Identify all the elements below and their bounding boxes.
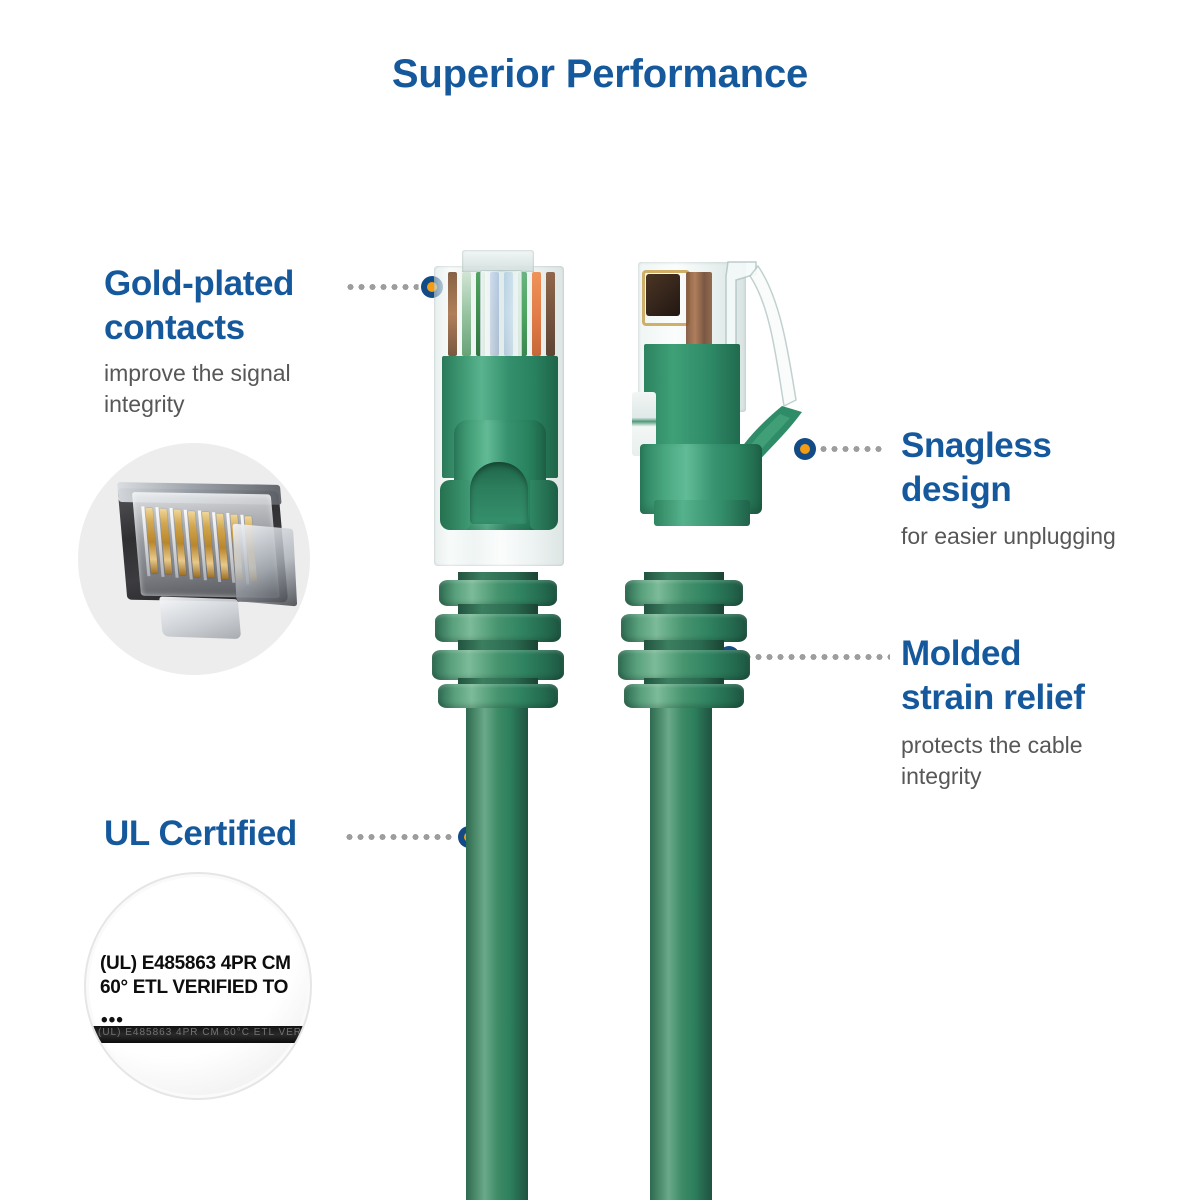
callout-heading-ul-certified: UL Certified	[104, 812, 364, 856]
cable-jacket-left	[466, 700, 528, 1200]
rj45-connector-front-view	[424, 248, 574, 588]
callout-heading-snagless-design: Snagless design	[901, 424, 1151, 512]
callout-heading-molded-strain-relief: Molded strain relief	[901, 632, 1161, 720]
cable-jacket-strip: (UL) E485863 4PR CM 60°C ETL VERIFIED TO	[84, 1026, 312, 1043]
callout-subtext-snagless-design: for easier unplugging	[901, 521, 1161, 552]
page-title: Superior Performance	[0, 52, 1200, 97]
boot-ring-3	[432, 650, 564, 680]
rj45-plug-macro-image	[109, 471, 304, 644]
boot-ring-2	[621, 614, 747, 642]
boot-ring-3	[618, 650, 750, 680]
cable-jacket-strip-text: (UL) E485863 4PR CM 60°C ETL VERIFIED TO	[98, 1027, 312, 1038]
wire-brown-2	[546, 272, 555, 356]
rj45-connector-side-view	[630, 248, 810, 588]
ul-print-line2: 60° ETL VERIFIED TO	[100, 977, 288, 998]
connector-top-tab	[462, 250, 534, 272]
boot-shoulder-left	[440, 480, 470, 530]
cable-jacket-right	[650, 700, 712, 1200]
leader-line-ul-certified	[344, 834, 460, 840]
infographic-page: Superior Performance Gold-plated contact…	[0, 0, 1200, 1200]
ul-print-text: (UL) E485863 4PR CM60° ETL VERIFIED TO	[100, 952, 300, 1000]
connector-boot-step	[654, 500, 750, 526]
boot-ring-4	[438, 684, 558, 708]
magnifier-gold-contacts	[78, 443, 310, 675]
callout-subtext-gold-plated-contacts: improve the signal integrity	[104, 358, 344, 420]
leader-line-snagless-design	[818, 446, 884, 452]
connector-green-body	[644, 344, 740, 460]
wire-brown-1	[448, 272, 457, 356]
callout-heading-gold-plated-contacts: Gold-plated contacts	[104, 262, 354, 350]
boot-thumb-recess	[470, 462, 528, 524]
ul-print-line1: (UL) E485863 4PR CM	[100, 953, 291, 974]
callout-subtext-molded-strain-relief: protects the cable integrity	[901, 730, 1151, 792]
boot-shoulder-right	[530, 480, 558, 530]
boot-ring-4	[624, 684, 744, 708]
leader-line-gold-plated-contacts	[345, 284, 423, 290]
wire-green-white	[462, 272, 471, 356]
plug-front-face	[232, 524, 297, 607]
plug-latch-tab	[159, 597, 241, 640]
wire-orange	[532, 272, 541, 356]
leader-line-molded-strain-relief	[742, 654, 890, 660]
magnifier-ul-print: (UL) E485863 4PR CM60° ETL VERIFIED TO •…	[84, 872, 312, 1100]
strain-relief-boot-right	[618, 572, 750, 708]
strain-relief-boot-left	[432, 572, 564, 708]
boot-ring-2	[435, 614, 561, 642]
connector-contact-cavity	[646, 274, 680, 316]
